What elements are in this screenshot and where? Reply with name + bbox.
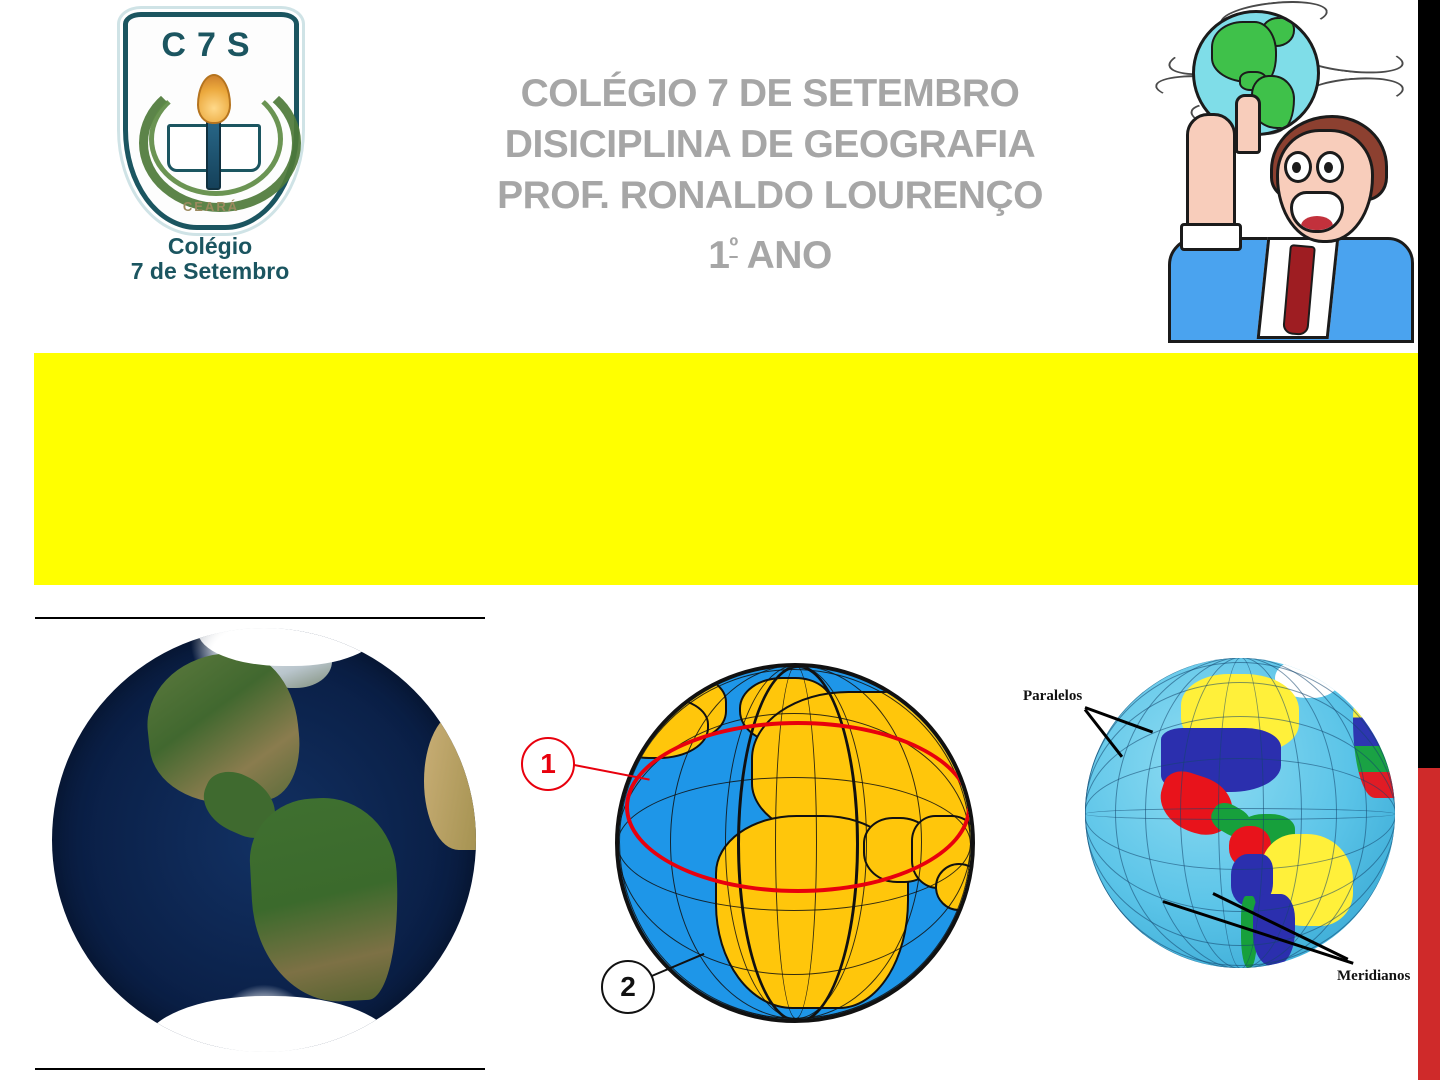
highlighted-parallel bbox=[625, 721, 971, 893]
label-meridianos: Meridianos bbox=[1337, 968, 1410, 985]
satellite-earth-image bbox=[52, 628, 476, 1052]
grade-ordinal: º bbox=[729, 233, 737, 260]
slide-header: C7S CEARÁ Colégio 7 de Setembro COLÉGIO … bbox=[0, 0, 1418, 330]
content-placeholder-block[interactable] bbox=[34, 353, 1418, 585]
callout-badge-1[interactable]: 1 bbox=[521, 737, 575, 791]
figure-rule-top bbox=[35, 617, 485, 619]
teacher-eye-right bbox=[1316, 151, 1344, 183]
title-line-grade: 1º ANO bbox=[400, 221, 1140, 281]
accent-bar-red bbox=[1418, 768, 1440, 1080]
graticule-eastern-limb bbox=[1353, 668, 1395, 798]
teacher-globe-illustration bbox=[1150, 0, 1418, 328]
shield-letter-c: C bbox=[161, 26, 197, 64]
figure-satellite-earth[interactable] bbox=[35, 606, 485, 1076]
page-title: COLÉGIO 7 DE SETEMBRO DISICIPLINA DE GEO… bbox=[400, 68, 1140, 281]
teacher-eye-left bbox=[1284, 151, 1312, 183]
graticule-globe-image bbox=[1085, 658, 1395, 968]
teacher-shirt-cuff bbox=[1180, 223, 1242, 251]
callout-badge-2[interactable]: 2 bbox=[601, 960, 655, 1014]
teacher-index-finger bbox=[1235, 94, 1261, 154]
shield-letter-7: 7 bbox=[197, 26, 227, 64]
figure-graticule-globe[interactable]: Paralelos Meridianos bbox=[1015, 640, 1415, 1040]
teacher-arm bbox=[1186, 113, 1236, 237]
accent-bar-black bbox=[1418, 0, 1440, 768]
political-southeast-asia bbox=[935, 863, 975, 911]
satellite-africa-limb bbox=[424, 712, 476, 850]
figure-political-globe[interactable]: 1 2 bbox=[505, 625, 975, 1045]
figures-row: 1 2 bbox=[0, 600, 1418, 1080]
satellite-antarctic-ice bbox=[144, 996, 394, 1052]
title-line-professor: PROF. RONALDO LOURENÇO bbox=[400, 170, 1140, 221]
teacher-figure bbox=[1150, 95, 1418, 328]
figure-rule-bottom bbox=[35, 1068, 485, 1070]
title-line-discipline: DISICIPLINA DE GEOGRAFIA bbox=[400, 119, 1140, 170]
school-logo: C7S CEARÁ Colégio 7 de Setembro bbox=[95, 12, 325, 312]
satellite-south-america bbox=[247, 794, 403, 1005]
logo-caption-line1: Colégio bbox=[95, 234, 325, 259]
shield-letters: C7S bbox=[123, 26, 299, 65]
shield-letter-s: S bbox=[227, 26, 261, 64]
grade-number: 1 bbox=[708, 234, 729, 277]
title-line-school: COLÉGIO 7 DE SETEMBRO bbox=[400, 68, 1140, 119]
label-paralelos: Paralelos bbox=[1023, 688, 1082, 705]
logo-caption: Colégio 7 de Setembro bbox=[95, 234, 325, 284]
shield-state-label: CEARÁ bbox=[123, 199, 299, 214]
logo-caption-line2: 7 de Setembro bbox=[95, 259, 325, 284]
shield-crest-icon: C7S CEARÁ bbox=[123, 12, 299, 230]
grade-suffix: ANO bbox=[738, 234, 832, 277]
